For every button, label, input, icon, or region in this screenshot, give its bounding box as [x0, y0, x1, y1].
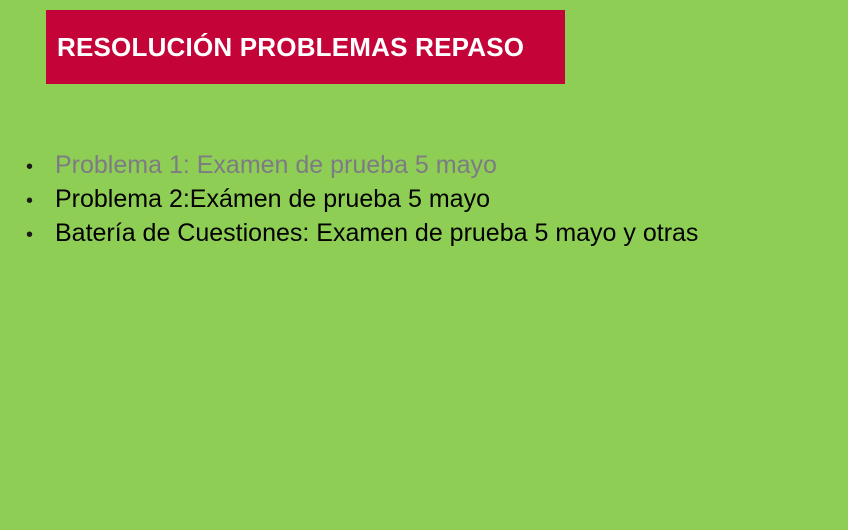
page-title: RESOLUCIÓN PROBLEMAS REPASO — [46, 33, 524, 62]
list-item[interactable]: • Problema 1: Examen de prueba 5 mayo — [0, 148, 848, 182]
list-item[interactable]: • Batería de Cuestiones: Examen de prueb… — [0, 216, 848, 250]
slide-canvas: RESOLUCIÓN PROBLEMAS REPASO • Problema 1… — [0, 0, 848, 530]
list-item-label[interactable]: Problema 2:Exámen de prueba 5 mayo — [55, 182, 490, 216]
bullet-list: • Problema 1: Examen de prueba 5 mayo • … — [0, 148, 848, 250]
title-banner: RESOLUCIÓN PROBLEMAS REPASO — [46, 10, 565, 84]
list-item-label[interactable]: Problema 1: Examen de prueba 5 mayo — [55, 148, 497, 182]
bullet-point-icon: • — [0, 184, 55, 218]
list-item[interactable]: • Problema 2:Exámen de prueba 5 mayo — [0, 182, 848, 216]
bullet-point-icon: • — [0, 150, 55, 184]
bullet-point-icon: • — [0, 218, 55, 252]
list-item-label[interactable]: Batería de Cuestiones: Examen de prueba … — [55, 216, 698, 250]
